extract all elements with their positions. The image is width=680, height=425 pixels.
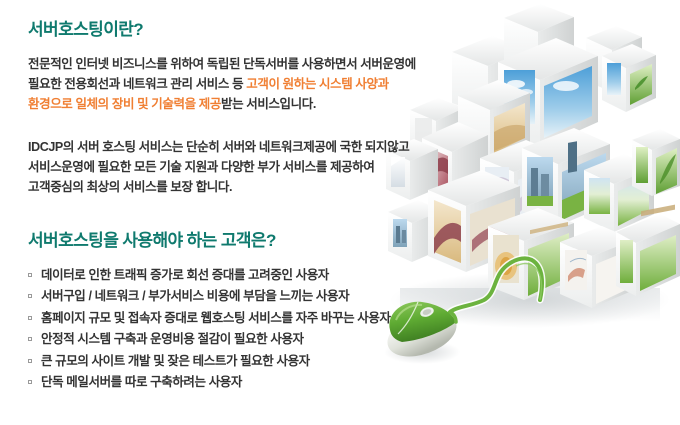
paragraph-1-line-3-plain: 받는 서비스입니다. bbox=[221, 97, 316, 111]
photo-cube-grass bbox=[488, 208, 574, 300]
list-item-label: 서버구입 / 네트워크 / 부가서비스 비용에 부담을 느끼는 사용자 bbox=[41, 289, 349, 303]
photo-cube-wheat bbox=[616, 205, 680, 296]
content-column: 서버호스팅이란? 전문적인 인터넷 비즈니스를 위하여 독립된 단독서버를 사용… bbox=[28, 0, 448, 394]
list-item-label: 홈페이지 규모 및 접속자 증대로 웹호스팅 서비스를 자주 바꾸는 사용자 bbox=[41, 311, 391, 325]
paragraph-1-line-1: 전문적인 인터넷 비즈니스를 위하여 독립된 단독서버를 사용하면서 서버운영에 bbox=[28, 57, 416, 71]
photo-cube-sky-right bbox=[602, 44, 656, 112]
page-root: 서버호스팅이란? 전문적인 인터넷 비즈니스를 위하여 독립된 단독서버를 사용… bbox=[0, 0, 680, 425]
photo-cube-sky-large bbox=[498, 38, 598, 148]
paragraph-1-line-2-plain: 필요한 전용회선과 네트워크 관리 서비스 등 bbox=[28, 77, 246, 91]
list-item: 홈페이지 규모 및 접속자 증대로 웹호스팅 서비스를 자주 바꾸는 사용자 bbox=[28, 308, 448, 330]
photo-cube-sketch bbox=[560, 226, 634, 308]
paragraph-2-line-1: IDCJP의 서버 호스팅 서비스는 단순히 서버와 네트워크제공에 국한 되지… bbox=[28, 140, 409, 154]
photo-cube-blossom bbox=[480, 140, 560, 228]
section-2-heading: 서버호스팅을 사용해야 하는 고객은? bbox=[28, 231, 448, 251]
list-item-label: 안정적 시스템 구축과 운영비용 절감이 필요한 사용자 bbox=[41, 332, 304, 346]
list-item-label: 단독 메일서버를 따로 구축하려는 사용자 bbox=[41, 375, 242, 389]
bullet-square-icon bbox=[28, 294, 32, 298]
section-1-paragraph-1: 전문적인 인터넷 비즈니스를 위하여 독립된 단독서버를 사용하면서 서버운영에… bbox=[28, 54, 448, 114]
section-1-heading: 서버호스팅이란? bbox=[28, 0, 448, 40]
paragraph-1-line-3-highlight: 환경으로 일체의 장비 및 기술력을 제공 bbox=[28, 97, 221, 111]
bullet-square-icon bbox=[28, 359, 32, 363]
target-customer-list: 데이터로 인한 트래픽 증가로 회선 증대를 고려중인 사용자 서버구입 / 네… bbox=[28, 265, 448, 394]
mouse-cable bbox=[450, 258, 542, 312]
photo-cube-sand bbox=[458, 80, 530, 160]
list-item: 안정적 시스템 구축과 운영비용 절감이 필요한 사용자 bbox=[28, 329, 448, 351]
list-item: 서버구입 / 네트워크 / 부가서비스 비용에 부담을 느끼는 사용자 bbox=[28, 286, 448, 308]
bullet-square-icon bbox=[28, 273, 32, 277]
photo-cube-city bbox=[522, 128, 610, 226]
section-1-paragraph-2: IDCJP의 서버 호스팅 서비스는 단순히 서버와 네트워크제공에 국한 되지… bbox=[28, 137, 448, 197]
bullet-square-icon bbox=[28, 337, 32, 341]
bullet-square-icon bbox=[28, 316, 32, 320]
list-item: 큰 규모의 사이트 개발 및 잦은 테스트가 필요한 사용자 bbox=[28, 351, 448, 373]
paragraph-1-line-2-highlight: 고객이 원하는 시스템 사양과 bbox=[246, 77, 388, 91]
list-item-label: 큰 규모의 사이트 개발 및 잦은 테스트가 필요한 사용자 bbox=[41, 354, 310, 368]
list-item: 단독 메일서버를 따로 구축하려는 사용자 bbox=[28, 372, 448, 394]
bullet-square-icon bbox=[28, 380, 32, 384]
list-item: 데이터로 인한 트래픽 증가로 회선 증대를 고려중인 사용자 bbox=[28, 265, 448, 287]
photo-cube-field bbox=[584, 154, 654, 232]
list-item-label: 데이터로 인한 트래픽 증가로 회선 증대를 고려중인 사용자 bbox=[41, 268, 329, 282]
paragraph-2-line-3: 고객중심의 최상의 서비스를 보장 합니다. bbox=[28, 180, 232, 194]
target-customer-list-wrap: 데이터로 인한 트래픽 증가로 회선 증대를 고려중인 사용자 서버구입 / 네… bbox=[28, 265, 448, 394]
paragraph-2-line-2: 서비스운영에 필요한 모든 기술 지원과 다양한 부가 서비스를 제공하여 bbox=[28, 160, 375, 174]
photo-cube-palm bbox=[632, 129, 680, 196]
